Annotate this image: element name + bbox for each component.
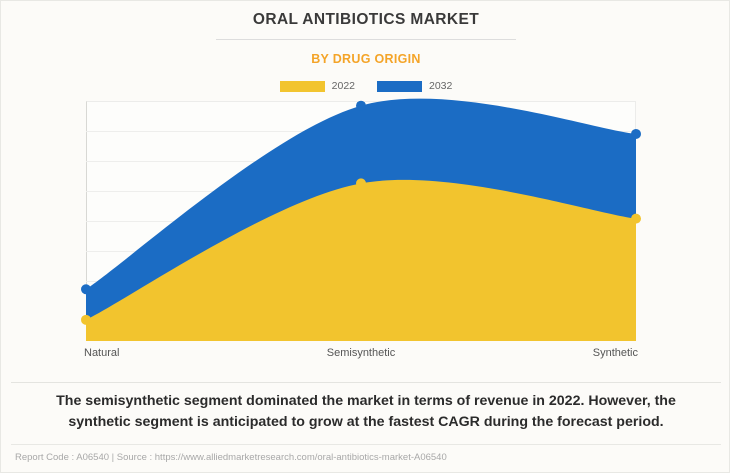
page-title: ORAL ANTIBIOTICS MARKET — [1, 11, 730, 29]
report-source-footer: Report Code : A06540 | Source : https://… — [15, 452, 447, 463]
chart-legend: 2022 2032 — [1, 80, 730, 92]
footer-divider — [11, 444, 721, 445]
caption-line-2: synthetic segment is anticipated to grow… — [68, 414, 663, 430]
chart-subtitle: BY DRUG ORIGIN — [1, 52, 730, 66]
data-point-2022-natural[interactable] — [81, 315, 91, 325]
data-point-2032-synthetic[interactable] — [631, 129, 641, 139]
legend-item-2022[interactable]: 2022 — [280, 80, 355, 92]
chart-caption: The semisynthetic segment dominated the … — [21, 391, 711, 433]
x-tick-label-semisynthetic: Semisynthetic — [327, 347, 395, 359]
plot-area — [86, 101, 636, 341]
x-tick-label-synthetic: Synthetic — [593, 347, 638, 359]
caption-line-1: The semisynthetic segment dominated the … — [56, 393, 676, 409]
data-point-2032-natural[interactable] — [81, 284, 91, 294]
legend-item-2032[interactable]: 2032 — [377, 80, 452, 92]
area-chart-svg — [86, 101, 636, 341]
data-point-2022-synthetic[interactable] — [631, 214, 641, 224]
legend-swatch-2022 — [280, 81, 325, 92]
legend-swatch-2032 — [377, 81, 422, 92]
chart-card: ORAL ANTIBIOTICS MARKET BY DRUG ORIGIN 2… — [0, 0, 730, 473]
title-divider — [216, 39, 516, 40]
x-tick-label-natural: Natural — [84, 347, 119, 359]
legend-label-2032: 2032 — [429, 80, 452, 92]
data-point-2032-semisynthetic[interactable] — [356, 101, 366, 111]
legend-label-2022: 2022 — [332, 80, 355, 92]
caption-divider — [11, 382, 721, 383]
x-axis: NaturalSemisyntheticSynthetic — [86, 347, 636, 365]
data-point-2022-semisynthetic[interactable] — [356, 178, 366, 188]
